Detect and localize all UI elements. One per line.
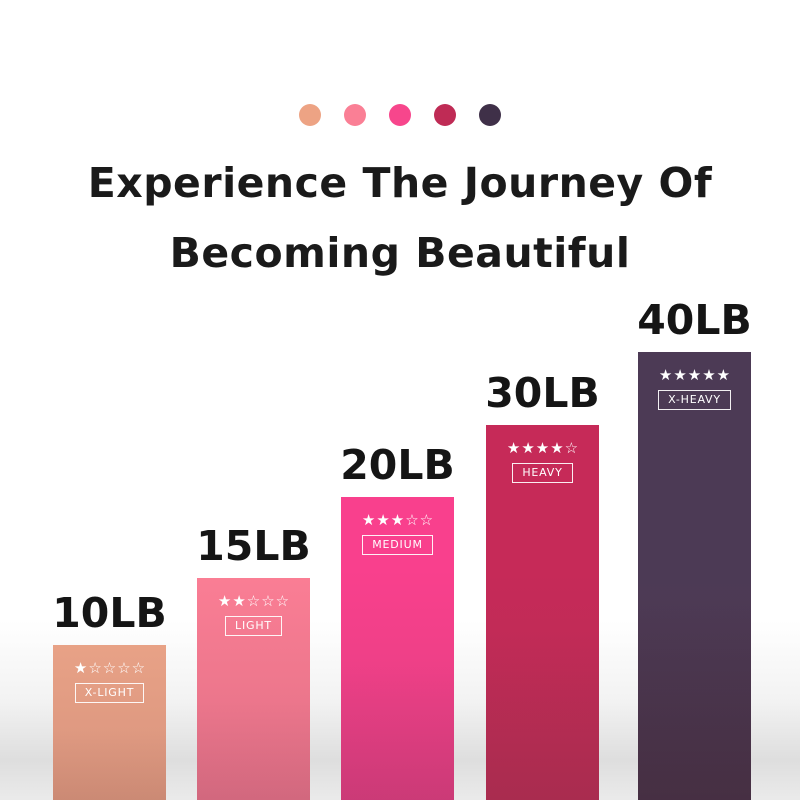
star-filled-icon: ★ <box>717 368 730 383</box>
star-empty-icon: ☆ <box>247 594 260 609</box>
bar-bottom-shading <box>486 570 599 800</box>
star-filled-icon: ★ <box>550 441 563 456</box>
bar-weight-label-30lb: 30LB <box>466 371 619 425</box>
bar-badge-heavy: ★★★★☆HEAVY <box>486 441 599 483</box>
star-filled-icon: ★ <box>391 513 404 528</box>
star-filled-icon: ★ <box>673 368 686 383</box>
star-empty-icon: ☆ <box>405 513 418 528</box>
star-empty-icon: ☆ <box>565 441 578 456</box>
bar-bottom-shading <box>341 570 454 800</box>
bar-group-30lb[interactable]: 30LB★★★★☆HEAVY <box>486 425 599 800</box>
tier-label: HEAVY <box>512 463 572 483</box>
bar-weight-label-15lb: 15LB <box>177 524 330 578</box>
bar-10lb[interactable]: ★☆☆☆☆X-LIGHT <box>53 645 166 800</box>
star-filled-icon: ★ <box>702 368 715 383</box>
star-filled-icon: ★ <box>376 513 389 528</box>
bar-20lb[interactable]: ★★★☆☆MEDIUM <box>341 497 454 800</box>
star-empty-icon: ☆ <box>103 661 116 676</box>
star-empty-icon: ☆ <box>276 594 289 609</box>
bar-weight-label-40lb: 40LB <box>618 298 771 352</box>
star-empty-icon: ☆ <box>117 661 130 676</box>
color-swatch-1 <box>299 104 321 126</box>
star-filled-icon: ★ <box>521 441 534 456</box>
star-filled-icon: ★ <box>659 368 672 383</box>
bar-badge-x-light: ★☆☆☆☆X-LIGHT <box>53 661 166 703</box>
bar-bottom-shading <box>638 570 751 800</box>
star-empty-icon: ☆ <box>132 661 145 676</box>
bar-15lb[interactable]: ★★☆☆☆LIGHT <box>197 578 310 800</box>
star-rating: ★☆☆☆☆ <box>74 661 145 676</box>
bar-30lb[interactable]: ★★★★☆HEAVY <box>486 425 599 800</box>
star-filled-icon: ★ <box>507 441 520 456</box>
bar-badge-medium: ★★★☆☆MEDIUM <box>341 513 454 555</box>
tier-label: MEDIUM <box>362 535 433 555</box>
tier-label: X-LIGHT <box>75 683 144 703</box>
star-empty-icon: ☆ <box>88 661 101 676</box>
bar-group-15lb[interactable]: 15LB★★☆☆☆LIGHT <box>197 578 310 800</box>
page-title-line-2: Becoming Beautiful <box>0 218 800 288</box>
star-filled-icon: ★ <box>362 513 375 528</box>
star-filled-icon: ★ <box>218 594 231 609</box>
bar-group-40lb[interactable]: 40LB★★★★★X-HEAVY <box>638 352 751 800</box>
star-filled-icon: ★ <box>74 661 87 676</box>
bar-group-20lb[interactable]: 20LB★★★☆☆MEDIUM <box>341 497 454 800</box>
star-rating: ★★★★☆ <box>507 441 578 456</box>
star-rating: ★★★☆☆ <box>362 513 433 528</box>
star-filled-icon: ★ <box>232 594 245 609</box>
bar-weight-label-10lb: 10LB <box>33 591 186 645</box>
star-empty-icon: ☆ <box>261 594 274 609</box>
bar-badge-x-heavy: ★★★★★X-HEAVY <box>638 368 751 410</box>
star-filled-icon: ★ <box>536 441 549 456</box>
tier-label: X-HEAVY <box>658 390 731 410</box>
resistance-band-chart-poster: Experience The Journey Of Becoming Beaut… <box>0 0 800 800</box>
page-title: Experience The Journey Of Becoming Beaut… <box>0 148 800 288</box>
bar-badge-light: ★★☆☆☆LIGHT <box>197 594 310 636</box>
bar-40lb[interactable]: ★★★★★X-HEAVY <box>638 352 751 800</box>
color-swatch-5 <box>479 104 501 126</box>
star-rating: ★★★★★ <box>659 368 730 383</box>
color-swatch-row <box>0 104 800 126</box>
tier-label: LIGHT <box>225 616 282 636</box>
page-title-line-1: Experience The Journey Of <box>0 148 800 218</box>
bar-group-10lb[interactable]: 10LB★☆☆☆☆X-LIGHT <box>53 645 166 800</box>
star-empty-icon: ☆ <box>420 513 433 528</box>
color-swatch-2 <box>344 104 366 126</box>
star-filled-icon: ★ <box>688 368 701 383</box>
color-swatch-3 <box>389 104 411 126</box>
color-swatch-4 <box>434 104 456 126</box>
star-rating: ★★☆☆☆ <box>218 594 289 609</box>
bar-weight-label-20lb: 20LB <box>321 443 474 497</box>
